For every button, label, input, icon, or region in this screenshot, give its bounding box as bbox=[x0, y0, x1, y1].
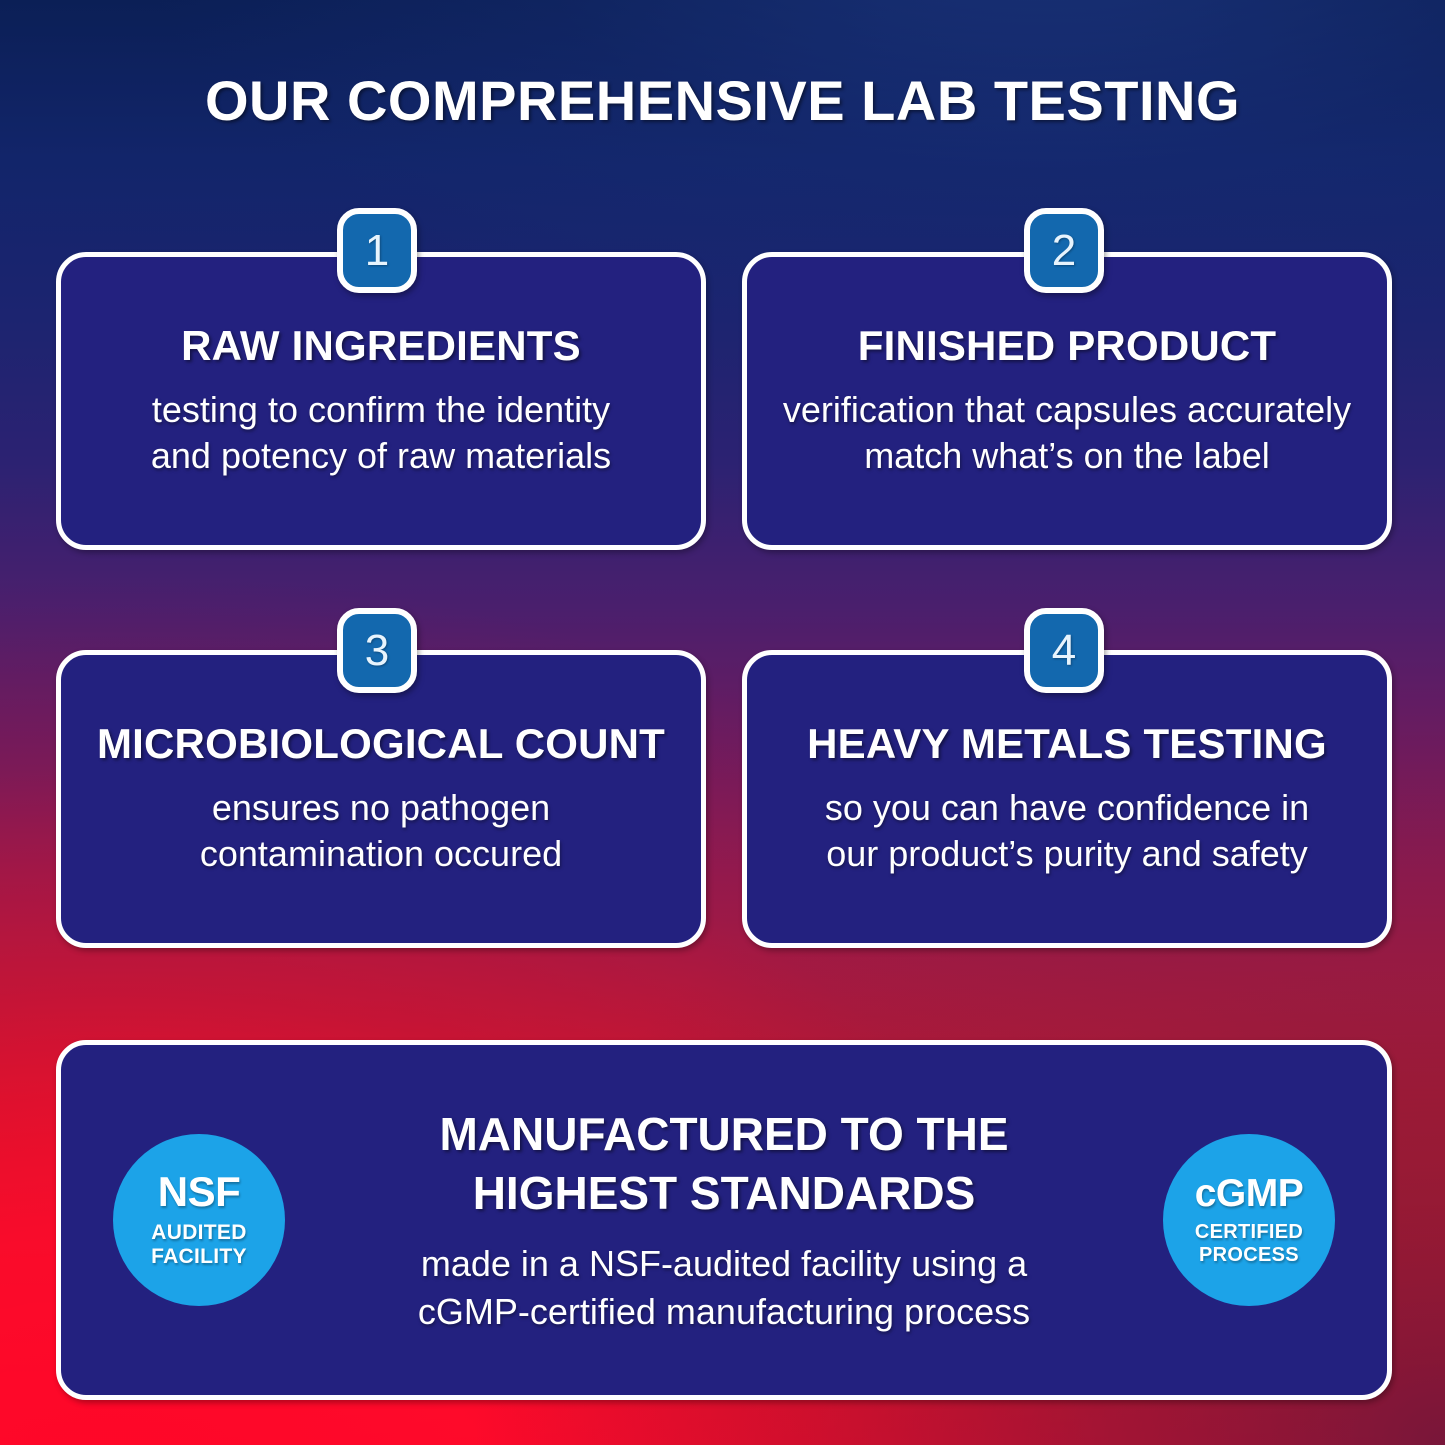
step-card-2-title: FINISHED PRODUCT bbox=[858, 323, 1277, 368]
step-card-4-body-line1: so you can have confidence in bbox=[825, 785, 1309, 831]
step-badge-3: 3 bbox=[337, 608, 417, 693]
step-badge-1-number: 1 bbox=[365, 229, 389, 273]
step-card-4-body: so you can have confidence in our produc… bbox=[825, 785, 1309, 877]
step-card-3: MICROBIOLOGICAL COUNT ensures no pathoge… bbox=[56, 650, 706, 948]
cgmp-seal-sub-line2: PROCESS bbox=[1195, 1244, 1303, 1267]
step-card-3-body-line1: ensures no pathogen bbox=[200, 785, 562, 831]
step-badge-4: 4 bbox=[1024, 608, 1104, 693]
step-card-2-body-line2: match what’s on the label bbox=[783, 433, 1351, 479]
manufacturing-card-text: MANUFACTURED TO THE HIGHEST STANDARDS ma… bbox=[285, 1105, 1163, 1336]
page-title: OUR COMPREHENSIVE LAB TESTING bbox=[0, 72, 1445, 131]
cgmp-seal-sub: CERTIFIED PROCESS bbox=[1195, 1221, 1303, 1267]
step-card-1: RAW INGREDIENTS testing to confirm the i… bbox=[56, 252, 706, 550]
nsf-seal-sub-line1: AUDITED bbox=[151, 1221, 247, 1245]
cgmp-seal-sub-line1: CERTIFIED bbox=[1195, 1221, 1303, 1244]
infographic-root: OUR COMPREHENSIVE LAB TESTING RAW INGRED… bbox=[0, 0, 1445, 1445]
step-badge-4-number: 4 bbox=[1052, 629, 1076, 673]
step-badge-3-number: 3 bbox=[365, 629, 389, 673]
step-card-4-body-line2: our product’s purity and safety bbox=[825, 831, 1309, 877]
cgmp-seal-icon: cGMP CERTIFIED PROCESS bbox=[1163, 1134, 1335, 1306]
step-card-3-body: ensures no pathogen contamination occure… bbox=[200, 785, 562, 877]
nsf-seal-sub-line2: FACILITY bbox=[151, 1245, 247, 1269]
step-badge-2-number: 2 bbox=[1052, 229, 1076, 273]
manufacturing-card-body-line1: made in a NSF-audited facility using a bbox=[295, 1240, 1153, 1288]
nsf-seal-icon: NSF AUDITED FACILITY bbox=[113, 1134, 285, 1306]
manufacturing-card-title: MANUFACTURED TO THE HIGHEST STANDARDS bbox=[295, 1105, 1153, 1225]
step-card-1-body-line2: and potency of raw materials bbox=[151, 433, 611, 479]
step-card-1-body-line1: testing to confirm the identity bbox=[151, 387, 611, 433]
manufacturing-card-body-line2: cGMP-certified manufacturing process bbox=[295, 1288, 1153, 1336]
step-card-2-body-line1: verification that capsules accurately bbox=[783, 387, 1351, 433]
step-card-2: FINISHED PRODUCT verification that capsu… bbox=[742, 252, 1392, 550]
manufacturing-card-body: made in a NSF-audited facility using a c… bbox=[295, 1240, 1153, 1335]
step-card-1-body: testing to confirm the identity and pote… bbox=[151, 387, 611, 479]
step-badge-1: 1 bbox=[337, 208, 417, 293]
manufacturing-card: NSF AUDITED FACILITY MANUFACTURED TO THE… bbox=[56, 1040, 1392, 1400]
manufacturing-card-title-line2: HIGHEST STANDARDS bbox=[295, 1164, 1153, 1224]
nsf-seal-sub: AUDITED FACILITY bbox=[151, 1221, 247, 1269]
step-card-3-body-line2: contamination occured bbox=[200, 831, 562, 877]
cgmp-seal-main: cGMP bbox=[1195, 1174, 1304, 1213]
nsf-seal-main: NSF bbox=[158, 1171, 241, 1213]
step-card-3-title: MICROBIOLOGICAL COUNT bbox=[97, 721, 665, 766]
step-card-2-body: verification that capsules accurately ma… bbox=[783, 387, 1351, 479]
step-card-4: HEAVY METALS TESTING so you can have con… bbox=[742, 650, 1392, 948]
manufacturing-card-title-line1: MANUFACTURED TO THE bbox=[295, 1105, 1153, 1165]
step-badge-2: 2 bbox=[1024, 208, 1104, 293]
step-card-1-title: RAW INGREDIENTS bbox=[181, 323, 581, 368]
step-card-4-title: HEAVY METALS TESTING bbox=[807, 721, 1327, 766]
